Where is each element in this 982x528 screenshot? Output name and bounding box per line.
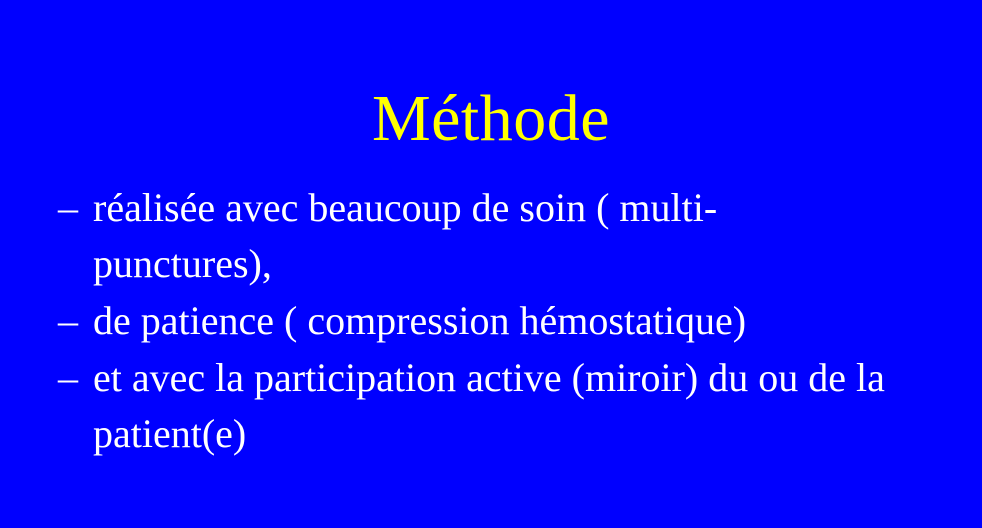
list-item-text: réalisée avec beaucoup de soin ( multi-p… (93, 180, 833, 292)
list-item: – réalisée avec beaucoup de soin ( multi… (58, 180, 958, 292)
dash-bullet-icon: – (58, 180, 78, 236)
dash-bullet-icon: – (58, 350, 78, 406)
list-item: – et avec la participation active (miroi… (58, 350, 958, 462)
dash-bullet-icon: – (58, 293, 78, 349)
page-title: Méthode (0, 82, 982, 156)
list-item: – de patience ( compression hémostatique… (58, 293, 958, 349)
list-item-text: de patience ( compression hémostatique) (93, 293, 958, 349)
presentation-slide: Méthode – réalisée avec beaucoup de soin… (0, 0, 982, 528)
bullet-list: – réalisée avec beaucoup de soin ( multi… (58, 180, 958, 463)
list-item-text: et avec la participation active (miroir)… (93, 350, 958, 462)
